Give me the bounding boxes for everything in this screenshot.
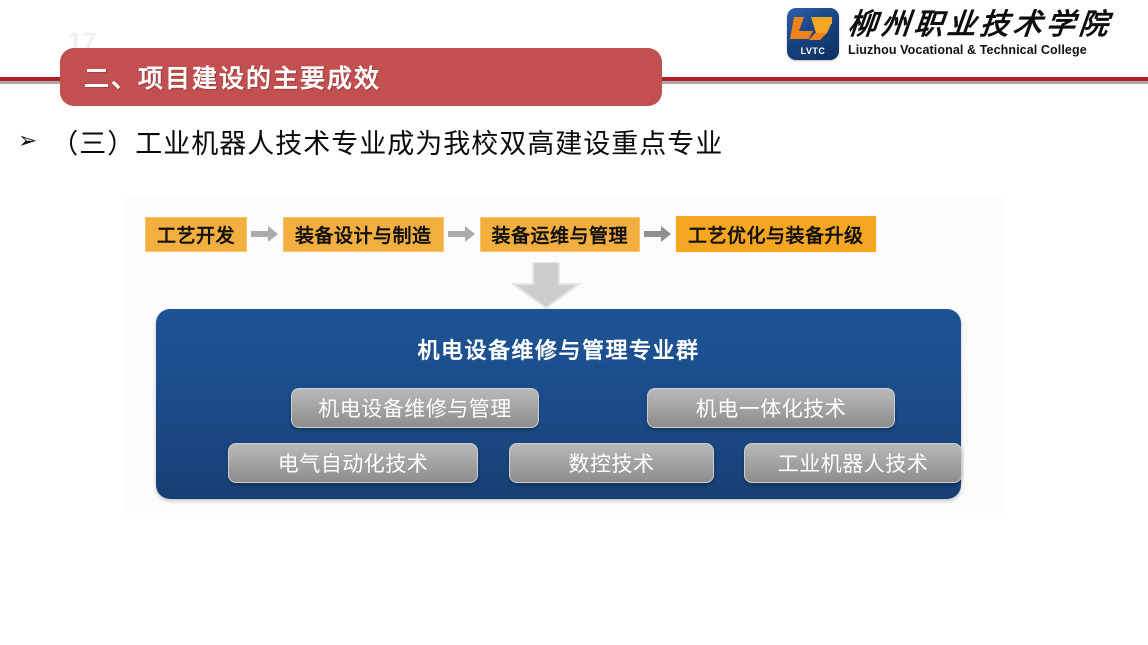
program-group-diagram: 工艺开发 装备设计与制造 装备运维与管理 工艺优化与装备升级 xyxy=(123,196,1003,514)
right-arrow-icon xyxy=(251,225,279,243)
flow-step-label: 工艺优化与装备升级 xyxy=(688,221,864,248)
flow-step-2: 装备运维与管理 xyxy=(480,217,641,252)
down-block-arrow-icon xyxy=(511,262,581,310)
slide-canvas: LVTC 柳州职业技术学院 Liuzhou Vocational & Techn… xyxy=(0,0,1148,645)
major-chip-1[interactable]: 机电一体化技术 xyxy=(647,388,895,428)
bullet-line: ➢ （三）工业机器人技术专业成为我校双高建设重点专业 xyxy=(18,122,723,161)
flow-step-label: 装备运维与管理 xyxy=(492,221,629,248)
major-chip-label: 工业机器人技术 xyxy=(778,448,929,478)
flow-step-3: 工艺优化与装备升级 xyxy=(676,216,876,252)
flow-step-label: 装备设计与制造 xyxy=(295,221,432,248)
school-logo: LVTC 柳州职业技术学院 Liuzhou Vocational & Techn… xyxy=(787,8,1112,60)
major-chip-2[interactable]: 电气自动化技术 xyxy=(228,443,478,483)
major-chip-4[interactable]: 工业机器人技术 xyxy=(744,443,962,483)
school-name-block: 柳州职业技术学院 Liuzhou Vocational & Technical … xyxy=(848,11,1112,57)
arrow-bullet-icon: ➢ xyxy=(18,130,37,153)
section-title: 二、项目建设的主要成效 xyxy=(84,59,381,95)
school-name-cn: 柳州职业技术学院 xyxy=(846,11,1113,40)
school-name-en: Liuzhou Vocational & Technical College xyxy=(848,44,1112,57)
right-arrow-icon xyxy=(448,225,476,243)
major-chip-label: 机电一体化技术 xyxy=(696,393,847,423)
flow-step-label: 工艺开发 xyxy=(157,221,235,248)
major-chip-0[interactable]: 机电设备维修与管理 xyxy=(291,388,539,428)
lvtc-logo-icon: LVTC xyxy=(787,8,839,60)
lvtc-monogram-icon xyxy=(787,13,839,43)
process-flow-row: 工艺开发 装备设计与制造 装备运维与管理 工艺优化与装备升级 xyxy=(145,216,876,252)
flow-step-0: 工艺开发 xyxy=(145,217,247,252)
bullet-text: （三）工业机器人技术专业成为我校双高建设重点专业 xyxy=(51,122,723,161)
major-chip-label: 机电设备维修与管理 xyxy=(318,393,512,423)
major-chip-label: 数控技术 xyxy=(569,448,655,478)
logo-abbr: LVTC xyxy=(787,46,839,56)
section-banner: 二、项目建设的主要成效 xyxy=(60,48,662,106)
right-arrow-icon xyxy=(644,225,672,243)
major-group-title: 机电设备维修与管理专业群 xyxy=(156,333,961,365)
major-group-panel: 机电设备维修与管理专业群 机电设备维修与管理 机电一体化技术 电气自动化技术 数… xyxy=(156,309,961,499)
flow-step-1: 装备设计与制造 xyxy=(283,217,444,252)
major-chip-label: 电气自动化技术 xyxy=(278,448,429,478)
major-chip-3[interactable]: 数控技术 xyxy=(509,443,714,483)
